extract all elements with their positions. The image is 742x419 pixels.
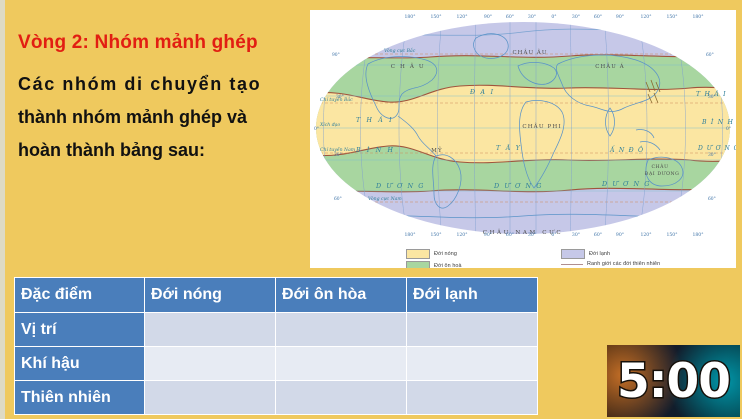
- svg-text:180°: 180°: [692, 14, 703, 20]
- svg-text:150°: 150°: [430, 14, 441, 20]
- svg-text:0°: 0°: [551, 232, 556, 238]
- table-cell-nature-hot[interactable]: [145, 381, 276, 415]
- legend-swatch-cold-icon: [561, 249, 585, 259]
- legend-label-boundary: Ranh giới các đới thiên nhiên: [587, 261, 660, 267]
- svg-text:60°: 60°: [334, 197, 342, 202]
- svg-text:CHÂU PHI: CHÂU PHI: [522, 123, 561, 130]
- map-longitude-ticks: 180°150°120° 90°60°30° 0°30°60° 90°120°1…: [310, 10, 736, 24]
- table-cell-location-cold[interactable]: [407, 313, 538, 347]
- svg-text:T Â Y: T Â Y: [496, 145, 522, 152]
- table-row: Vị trí: [15, 313, 538, 347]
- svg-text:30°: 30°: [708, 95, 716, 100]
- svg-text:ĐẠI DƯƠNG: ĐẠI DƯƠNG: [645, 170, 680, 177]
- svg-text:30°: 30°: [528, 14, 536, 20]
- svg-text:D Ư Ơ N G: D Ư Ơ N G: [601, 180, 651, 188]
- table-header-cell-cold: Đới lạnh: [407, 278, 538, 313]
- legend-item-temperate: Đới ôn hoà: [406, 261, 462, 268]
- svg-text:30°: 30°: [336, 95, 344, 100]
- legend-item-hot: Đới nóng: [406, 249, 457, 259]
- svg-text:0°: 0°: [726, 127, 731, 132]
- svg-text:CHÂU: CHÂU: [651, 163, 668, 170]
- svg-text:MỸ: MỸ: [431, 146, 443, 154]
- table-cell-climate-cold[interactable]: [407, 347, 538, 381]
- world-map-svg: CHÂU ÂU CHÂU Á CHÂU PHI C H Â U MỸ CHÂU …: [310, 10, 736, 238]
- svg-text:0°: 0°: [551, 14, 556, 20]
- table-cell-nature-cold[interactable]: [407, 381, 538, 415]
- map-panel: CHÂU ÂU CHÂU Á CHÂU PHI C H Â U MỸ CHÂU …: [310, 10, 736, 268]
- svg-text:Xích đạo: Xích đạo: [319, 121, 340, 128]
- svg-text:30°: 30°: [572, 232, 580, 238]
- svg-text:B Ì N H: B Ì N H: [355, 147, 395, 154]
- svg-text:30°: 30°: [334, 153, 342, 158]
- table-row-label-climate: Khí hậu: [15, 347, 145, 381]
- svg-text:Vòng cực Bắc: Vòng cực Bắc: [384, 47, 416, 54]
- svg-text:150°: 150°: [430, 232, 441, 238]
- svg-text:D Ư Ơ N G: D Ư Ơ N G: [697, 145, 736, 152]
- svg-text:B Ì N H: B Ì N H: [701, 119, 734, 126]
- svg-text:90°: 90°: [616, 14, 624, 20]
- worksheet-table: Đặc điểm Đới nóng Đới ôn hòa Đới lạnh Vị…: [14, 277, 538, 415]
- table-row: Thiên nhiên: [15, 381, 538, 415]
- world-map-image: CHÂU ÂU CHÂU Á CHÂU PHI C H Â U MỸ CHÂU …: [310, 10, 736, 238]
- svg-text:Ấ N Đ Ộ: Ấ N Đ Ộ: [609, 146, 644, 154]
- table-header-row: Đặc điểm Đới nóng Đới ôn hòa Đới lạnh: [15, 278, 538, 313]
- svg-text:60°: 60°: [506, 232, 514, 238]
- legend-swatch-hot-icon: [406, 249, 430, 259]
- svg-text:120°: 120°: [640, 14, 651, 20]
- svg-text:D Ư Ơ N G: D Ư Ơ N G: [493, 182, 543, 190]
- svg-text:D Ư Ơ N G: D Ư Ơ N G: [375, 182, 425, 190]
- svg-text:30°: 30°: [528, 232, 536, 238]
- table-row: Khí hậu: [15, 347, 538, 381]
- svg-text:60°: 60°: [506, 14, 514, 20]
- svg-text:90°: 90°: [332, 53, 340, 58]
- svg-text:CHÂU Á: CHÂU Á: [595, 63, 624, 70]
- legend-item-boundary: Ranh giới các đới thiên nhiên: [561, 261, 660, 267]
- svg-text:60°: 60°: [594, 232, 602, 238]
- svg-text:30°: 30°: [572, 14, 580, 20]
- svg-text:180°: 180°: [404, 232, 415, 238]
- legend-swatch-temperate-icon: [406, 261, 430, 268]
- map-longitude-ticks-bottom: 180°150°120° 90°60°30° 0°30°60° 90°120°1…: [310, 224, 736, 238]
- svg-text:Đ Ạ I: Đ Ạ I: [469, 89, 495, 96]
- legend-label-hot: Đới nóng: [434, 251, 457, 257]
- svg-text:150°: 150°: [666, 14, 677, 20]
- svg-text:0°: 0°: [314, 127, 319, 132]
- instruction-line-1: Các nhóm di chuyển tạo: [18, 68, 308, 101]
- countdown-timer-value: 5:00: [617, 358, 730, 405]
- table-header-cell-feature: Đặc điểm: [15, 278, 145, 313]
- left-edge-strip: [0, 0, 5, 419]
- table-cell-location-hot[interactable]: [145, 313, 276, 347]
- svg-text:90°: 90°: [484, 14, 492, 20]
- legend-label-temperate: Đới ôn hoà: [434, 263, 462, 268]
- svg-text:60°: 60°: [708, 197, 716, 202]
- legend-swatch-boundary-line-icon: [561, 264, 583, 265]
- svg-text:150°: 150°: [666, 232, 677, 238]
- legend-label-cold: Đới lạnh: [589, 251, 610, 257]
- legend-item-cold: Đới lạnh: [561, 249, 610, 259]
- table-cell-nature-temperate[interactable]: [276, 381, 407, 415]
- instruction-line-2: thành nhóm mảnh ghép và: [18, 101, 308, 134]
- table-cell-climate-temperate[interactable]: [276, 347, 407, 381]
- countdown-timer[interactable]: 5:00: [607, 345, 740, 417]
- svg-text:Chí tuyến Nam: Chí tuyến Nam: [320, 146, 356, 153]
- svg-text:60°: 60°: [594, 14, 602, 20]
- slide-canvas: Vòng 2: Nhóm mảnh ghép Các nhóm di chuyể…: [0, 0, 742, 419]
- page-title: Vòng 2: Nhóm mảnh ghép: [18, 32, 258, 54]
- table-cell-climate-hot[interactable]: [145, 347, 276, 381]
- table-row-label-location: Vị trí: [15, 313, 145, 347]
- svg-text:180°: 180°: [404, 14, 415, 20]
- svg-text:120°: 120°: [456, 14, 467, 20]
- svg-text:180°: 180°: [692, 232, 703, 238]
- instruction-line-3: hoàn thành bảng sau:: [18, 134, 308, 167]
- svg-text:T H Á I: T H Á I: [356, 117, 394, 124]
- svg-text:90°: 90°: [616, 232, 624, 238]
- table-row-label-nature: Thiên nhiên: [15, 381, 145, 415]
- svg-text:Vòng cực Nam: Vòng cực Nam: [368, 195, 402, 202]
- table-header-cell-hot: Đới nóng: [145, 278, 276, 313]
- svg-text:120°: 120°: [640, 232, 651, 238]
- svg-text:60°: 60°: [706, 53, 714, 58]
- svg-text:C H Â U: C H Â U: [391, 63, 425, 70]
- instruction-text: Các nhóm di chuyển tạo thành nhóm mảnh g…: [18, 68, 308, 167]
- table-cell-location-temperate[interactable]: [276, 313, 407, 347]
- svg-text:30°: 30°: [708, 153, 716, 158]
- svg-text:CHÂU ÂU: CHÂU ÂU: [512, 49, 547, 56]
- table-header-cell-temperate: Đới ôn hòa: [276, 278, 407, 313]
- svg-text:90°: 90°: [484, 232, 492, 238]
- svg-text:120°: 120°: [456, 232, 467, 238]
- map-legend: Đới nóng Đới ôn hoà Đới lạnh Ranh giới c…: [406, 248, 736, 268]
